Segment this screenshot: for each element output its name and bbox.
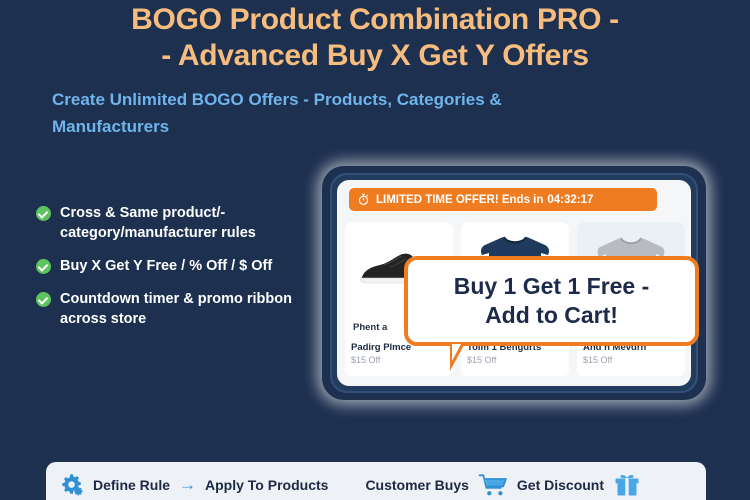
ribbon-label: LIMITED TIME OFFER! Ends in [376, 194, 543, 206]
workflow-step-define-rule[interactable]: Define Rule [93, 477, 170, 493]
bogo-callout-bubble: Buy 1 Get 1 Free - Add to Cart! [404, 256, 699, 346]
callout-line-2: Add to Cart! [485, 301, 618, 330]
feature-text: Cross & Same product/-category/manufactu… [60, 203, 326, 243]
product-price: $15 Off [351, 355, 447, 365]
shelf-label: Phent a [353, 322, 387, 333]
limited-time-offer-ribbon: LIMITED TIME OFFER! Ends in 04:32:17 [349, 188, 657, 211]
title-line-1: BOGO Product Combination PRO - [0, 2, 750, 38]
list-item: Buy X Get Y Free / % Off / $ Off [36, 256, 326, 276]
arrow-right-icon: → [179, 475, 196, 495]
check-circle-icon [36, 206, 51, 221]
workflow-step-get-discount[interactable]: Get Discount [517, 477, 604, 493]
callout-tail-inner [452, 344, 461, 361]
feature-list: Cross & Same product/-category/manufactu… [36, 203, 326, 342]
product-price: $15 Off [583, 355, 679, 365]
page-subtitle: Create Unlimited BOGO Offers - Products,… [52, 86, 572, 140]
shopping-cart-icon [478, 473, 508, 497]
list-item: Cross & Same product/-category/manufactu… [36, 203, 326, 243]
grid-icon [337, 476, 356, 495]
workflow-step-customer-buys[interactable]: Customer Buys [365, 477, 468, 493]
gift-icon [613, 471, 641, 499]
check-circle-icon [36, 292, 51, 307]
page-title: BOGO Product Combination PRO - - Advance… [0, 2, 750, 74]
feature-text: Buy X Get Y Free / % Off / $ Off [60, 256, 272, 276]
check-circle-icon [36, 259, 51, 274]
stopwatch-icon [357, 193, 370, 206]
workflow-strip: Define Rule → Apply To Products Customer… [46, 462, 706, 500]
feature-text: Countdown timer & promo ribbon across st… [60, 289, 326, 329]
product-price: $15 Off [467, 355, 563, 365]
list-item: Countdown timer & promo ribbon across st… [36, 289, 326, 329]
callout-line-1: Buy 1 Get 1 Free - [454, 272, 650, 301]
gears-icon [60, 473, 84, 497]
workflow-step-apply-to-products[interactable]: Apply To Products [205, 477, 328, 493]
title-line-2: - Advanced Buy X Get Y Offers [0, 38, 750, 74]
countdown-timer: 04:32:17 [547, 194, 593, 206]
